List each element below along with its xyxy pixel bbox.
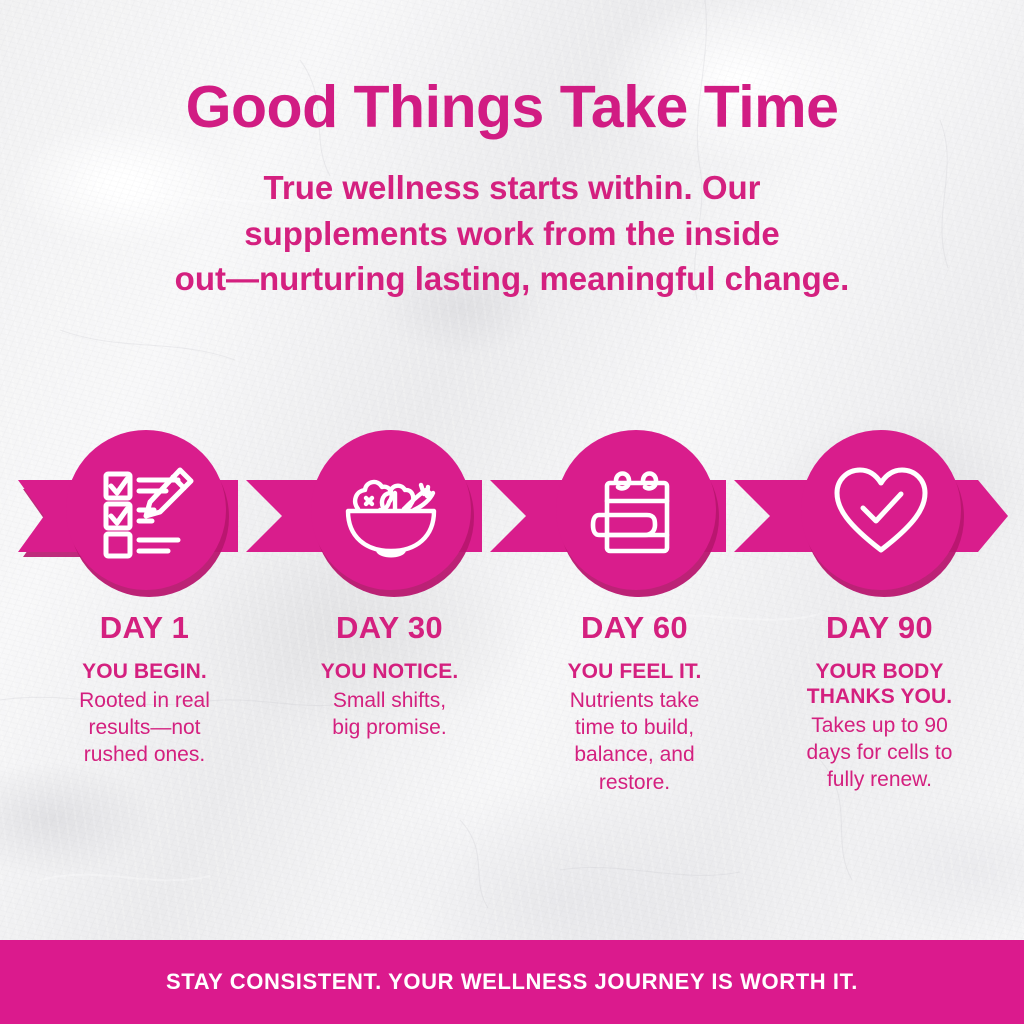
page-subtitle: True wellness starts within. Our supplem… [0,165,1024,302]
day-headline: YOU FEEL IT. [517,660,752,685]
headline-line: YOUR BODY [762,660,997,685]
day-label: DAY 30 [272,612,507,643]
body-line: days for cells to [762,739,997,766]
heart-check-icon [801,430,961,590]
day-body: Rooted in real results—not rushed ones. [27,687,262,769]
day-headline: YOU NOTICE. [272,660,507,685]
subtitle-line-1: True wellness starts within. Our [88,165,936,211]
header-block: Good Things Take Time True wellness star… [0,0,1024,302]
body-line: restore. [517,769,752,796]
timeline-node-day-60 [556,430,722,596]
caption-day-1: DAY 1 YOU BEGIN. Rooted in real results—… [27,612,262,769]
day-headline: YOUR BODY THANKS YOU. [762,660,997,710]
infographic-canvas: Good Things Take Time True wellness star… [0,0,1024,1024]
day-body: Small shifts, big promise. [272,687,507,742]
body-line: balance, and [517,741,752,768]
footer-message: STAY CONSISTENT. YOUR WELLNESS JOURNEY I… [166,969,858,995]
footer-banner: STAY CONSISTENT. YOUR WELLNESS JOURNEY I… [0,940,1024,1024]
page-title: Good Things Take Time [0,78,1024,137]
body-line: Rooted in real [27,687,262,714]
caption-row: DAY 1 YOU BEGIN. Rooted in real results—… [0,612,1024,862]
timeline [0,420,1024,605]
body-line: big promise. [272,714,507,741]
subtitle-line-3: out—nurturing lasting, meaningful change… [88,256,936,302]
checklist-pencil-icon [66,430,226,590]
day-label: DAY 1 [27,612,262,643]
day-label: DAY 60 [517,612,752,643]
subtitle-line-2: supplements work from the inside [88,211,936,257]
day-body: Takes up to 90 days for cells to fully r… [762,712,997,794]
body-line: results—not [27,714,262,741]
timeline-node-day-30 [311,430,477,596]
day-headline: YOU BEGIN. [27,660,262,685]
body-line: fully renew. [762,766,997,793]
body-line: Nutrients take [517,687,752,714]
day-label: DAY 90 [762,612,997,643]
body-line: Takes up to 90 [762,712,997,739]
caption-day-30: DAY 30 YOU NOTICE. Small shifts, big pro… [272,612,507,741]
calendar-flip-icon [556,430,716,590]
body-line: Small shifts, [272,687,507,714]
body-line: time to build, [517,714,752,741]
timeline-node-day-1 [66,430,232,596]
caption-day-90: DAY 90 YOUR BODY THANKS YOU. Takes up to… [762,612,997,793]
caption-day-60: DAY 60 YOU FEEL IT. Nutrients take time … [517,612,752,796]
salad-bowl-icon [311,430,471,590]
headline-line: THANKS YOU. [762,685,997,710]
body-line: rushed ones. [27,741,262,768]
timeline-node-day-90 [801,430,967,596]
day-body: Nutrients take time to build, balance, a… [517,687,752,796]
